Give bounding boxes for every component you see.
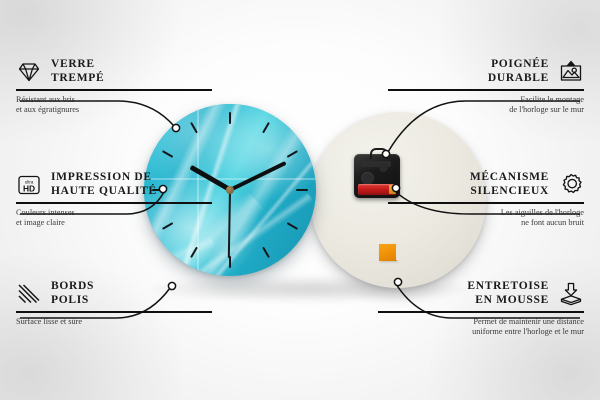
feature-title-line1: POIGNÉE bbox=[491, 58, 549, 70]
feature-header: MÉCANISME SILENCIEUX bbox=[388, 171, 584, 198]
diamond-icon bbox=[16, 59, 42, 85]
feature-desc-line1: Couleurs intenses bbox=[16, 208, 75, 217]
feature-title-line1: ENTRETOISE bbox=[467, 280, 549, 292]
feature-title-line2: DURABLE bbox=[488, 72, 549, 84]
feature-description: Résistant aux bris et aux égratignures bbox=[16, 95, 212, 116]
feature-desc-line2: ne font aucun bruit bbox=[521, 218, 584, 227]
feature-description: Surface lisse et sûre bbox=[16, 317, 212, 327]
infographic-canvas: VERRE TREMPÉ Résistant aux bris et aux é… bbox=[0, 0, 600, 400]
feature-title: MÉCANISME SILENCIEUX bbox=[470, 171, 549, 198]
feature-title-line1: VERRE bbox=[51, 58, 95, 70]
feature-header: POIGNÉE DURABLE bbox=[388, 58, 584, 85]
feature-desc-line2: uniforme entre l'horloge et le mur bbox=[472, 327, 584, 336]
gear-icon bbox=[558, 172, 584, 198]
feature-title-line1: IMPRESSION DE bbox=[51, 171, 152, 183]
feature-title: VERRE TREMPÉ bbox=[51, 58, 104, 85]
feature-mecanisme-silencieux: MÉCANISME SILENCIEUX Les aiguilles de l'… bbox=[388, 171, 584, 228]
feature-desc-line2: et aux égratignures bbox=[16, 105, 79, 114]
feature-title-line2: EN MOUSSE bbox=[475, 294, 549, 306]
feature-desc-line2: de l'horloge sur le mur bbox=[509, 105, 584, 114]
feature-poignee-durable: POIGNÉE DURABLE Facilite le montage de bbox=[388, 58, 584, 115]
feature-header: BORDS POLIS bbox=[16, 280, 212, 307]
feature-title-line2: TREMPÉ bbox=[51, 72, 104, 84]
feature-divider bbox=[378, 311, 584, 313]
feature-divider bbox=[388, 89, 584, 91]
feature-divider bbox=[16, 311, 212, 313]
feature-desc-line1: Permet de maintenir une distance bbox=[473, 317, 584, 326]
feature-desc-line1: Surface lisse et sûre bbox=[16, 317, 82, 326]
feature-title: BORDS POLIS bbox=[51, 280, 94, 307]
feature-description: Facilite le montage de l'horloge sur le … bbox=[388, 95, 584, 116]
feature-title: POIGNÉE DURABLE bbox=[488, 58, 549, 85]
connector-endpoint-verre bbox=[172, 124, 179, 131]
feature-title-line2: HAUTE QUALITÉ bbox=[51, 185, 157, 197]
connector-endpoint-poignee bbox=[382, 150, 389, 157]
feature-impression-haute-qualite: ultra HD IMPRESSION DE HAUTE QUALITÉ Cou… bbox=[16, 171, 212, 228]
foam-spacer-icon bbox=[558, 281, 584, 307]
feature-title: IMPRESSION DE HAUTE QUALITÉ bbox=[51, 171, 157, 198]
feature-divider bbox=[16, 89, 212, 91]
feature-description: Les aiguilles de l'horloge ne font aucun… bbox=[388, 208, 584, 229]
feature-description: Couleurs intenses et image claire bbox=[16, 208, 212, 229]
feature-header: VERRE TREMPÉ bbox=[16, 58, 212, 85]
feature-verre-trempe: VERRE TREMPÉ Résistant aux bris et aux é… bbox=[16, 58, 212, 115]
feature-desc-line2: et image claire bbox=[16, 218, 65, 227]
feature-title: ENTRETOISE EN MOUSSE bbox=[467, 280, 549, 307]
feature-description: Permet de maintenir une distance uniform… bbox=[378, 317, 584, 338]
feature-divider bbox=[16, 202, 212, 204]
feature-header: ENTRETOISE EN MOUSSE bbox=[378, 280, 584, 307]
feature-divider bbox=[388, 202, 584, 204]
feature-entretoise-en-mousse: ENTRETOISE EN MOUSSE Permet de maintenir… bbox=[378, 280, 584, 337]
feature-desc-line1: Facilite le montage bbox=[520, 95, 584, 104]
feature-title-line2: SILENCIEUX bbox=[470, 185, 549, 197]
polished-edge-icon bbox=[16, 281, 42, 307]
ultra-hd-icon-large-text: HD bbox=[23, 183, 35, 193]
feature-title-line1: MÉCANISME bbox=[470, 171, 549, 183]
ultra-hd-icon: ultra HD bbox=[16, 172, 42, 198]
feature-bords-polis: BORDS POLIS Surface lisse et sûre bbox=[16, 280, 212, 327]
picture-hanger-icon bbox=[558, 59, 584, 85]
feature-title-line1: BORDS bbox=[51, 280, 94, 292]
feature-header: ultra HD IMPRESSION DE HAUTE QUALITÉ bbox=[16, 171, 212, 198]
feature-title-line2: POLIS bbox=[51, 294, 89, 306]
feature-desc-line1: Résistant aux bris bbox=[16, 95, 75, 104]
feature-desc-line1: Les aiguilles de l'horloge bbox=[501, 208, 584, 217]
